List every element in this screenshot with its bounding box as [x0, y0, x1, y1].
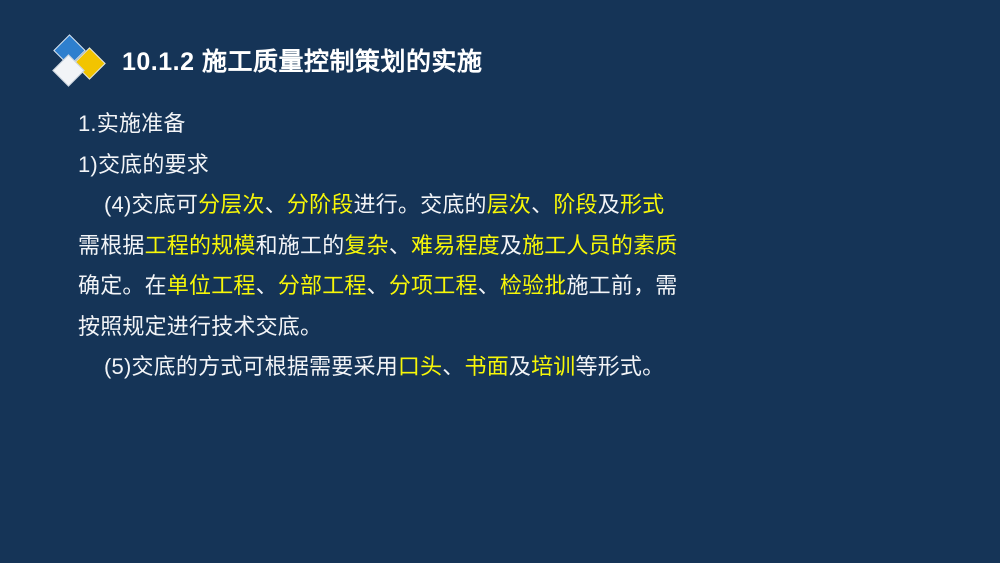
- highlighted-term: 施工人员的素质: [522, 233, 677, 258]
- body-line: 需根据工程的规模和施工的复杂、难易程度及施工人员的素质: [78, 226, 738, 267]
- highlighted-term: 阶段: [553, 192, 597, 217]
- body-text: 、: [367, 273, 389, 298]
- highlighted-term: 分部工程: [278, 273, 367, 298]
- body-line: 1.实施准备: [78, 104, 738, 145]
- body-text: 进行。交底的: [354, 192, 487, 217]
- body-text: 、: [531, 192, 553, 217]
- body-line: 1)交底的要求: [78, 145, 738, 186]
- body-text: (4)交底可: [104, 192, 198, 217]
- body-line: (4)交底可分层次、分阶段进行。交底的层次、阶段及形式: [78, 185, 738, 226]
- body-text: 确定。在: [78, 273, 167, 298]
- body-text: 等形式。: [576, 354, 665, 379]
- three-diamonds-logo-icon: [52, 35, 108, 89]
- body-text: 需根据: [78, 233, 145, 258]
- highlighted-term: 分层次: [198, 192, 265, 217]
- highlighted-term: 检验批: [500, 273, 567, 298]
- slide-body: 1.实施准备1)交底的要求(4)交底可分层次、分阶段进行。交底的层次、阶段及形式…: [78, 104, 738, 388]
- highlighted-term: 口头: [398, 354, 442, 379]
- body-text: 、: [442, 354, 464, 379]
- body-text: 、: [256, 273, 278, 298]
- highlighted-term: 培训: [531, 354, 575, 379]
- highlighted-term: 分项工程: [389, 273, 478, 298]
- body-text: 施工前，需: [566, 273, 677, 298]
- body-text: (5)交底的方式可根据需要采用: [104, 354, 398, 379]
- highlighted-term: 分阶段: [287, 192, 354, 217]
- body-text: 及: [500, 233, 522, 258]
- body-text: 及: [598, 192, 620, 217]
- body-text: 1.实施准备: [78, 111, 186, 136]
- highlighted-term: 工程的规模: [145, 233, 256, 258]
- highlighted-term: 层次: [487, 192, 531, 217]
- highlighted-term: 复杂: [344, 233, 388, 258]
- slide-header: 10.1.2 施工质量控制策划的实施: [52, 34, 482, 90]
- body-line: 按照规定进行技术交底。: [78, 307, 738, 348]
- body-line: 确定。在单位工程、分部工程、分项工程、检验批施工前，需: [78, 266, 738, 307]
- highlighted-term: 形式: [620, 192, 664, 217]
- highlighted-term: 单位工程: [167, 273, 256, 298]
- slide-canvas: 10.1.2 施工质量控制策划的实施 1.实施准备1)交底的要求(4)交底可分层…: [0, 0, 1000, 563]
- page-title: 10.1.2 施工质量控制策划的实施: [122, 50, 482, 75]
- body-text: 和施工的: [256, 233, 345, 258]
- body-text: 按照规定进行技术交底。: [78, 314, 322, 339]
- highlighted-term: 难易程度: [411, 233, 500, 258]
- body-text: 及: [509, 354, 531, 379]
- highlighted-term: 书面: [465, 354, 509, 379]
- body-text: 、: [478, 273, 500, 298]
- body-line: (5)交底的方式可根据需要采用口头、书面及培训等形式。: [78, 347, 738, 388]
- body-text: 、: [265, 192, 287, 217]
- body-text: 1)交底的要求: [78, 152, 209, 177]
- body-text: 、: [389, 233, 411, 258]
